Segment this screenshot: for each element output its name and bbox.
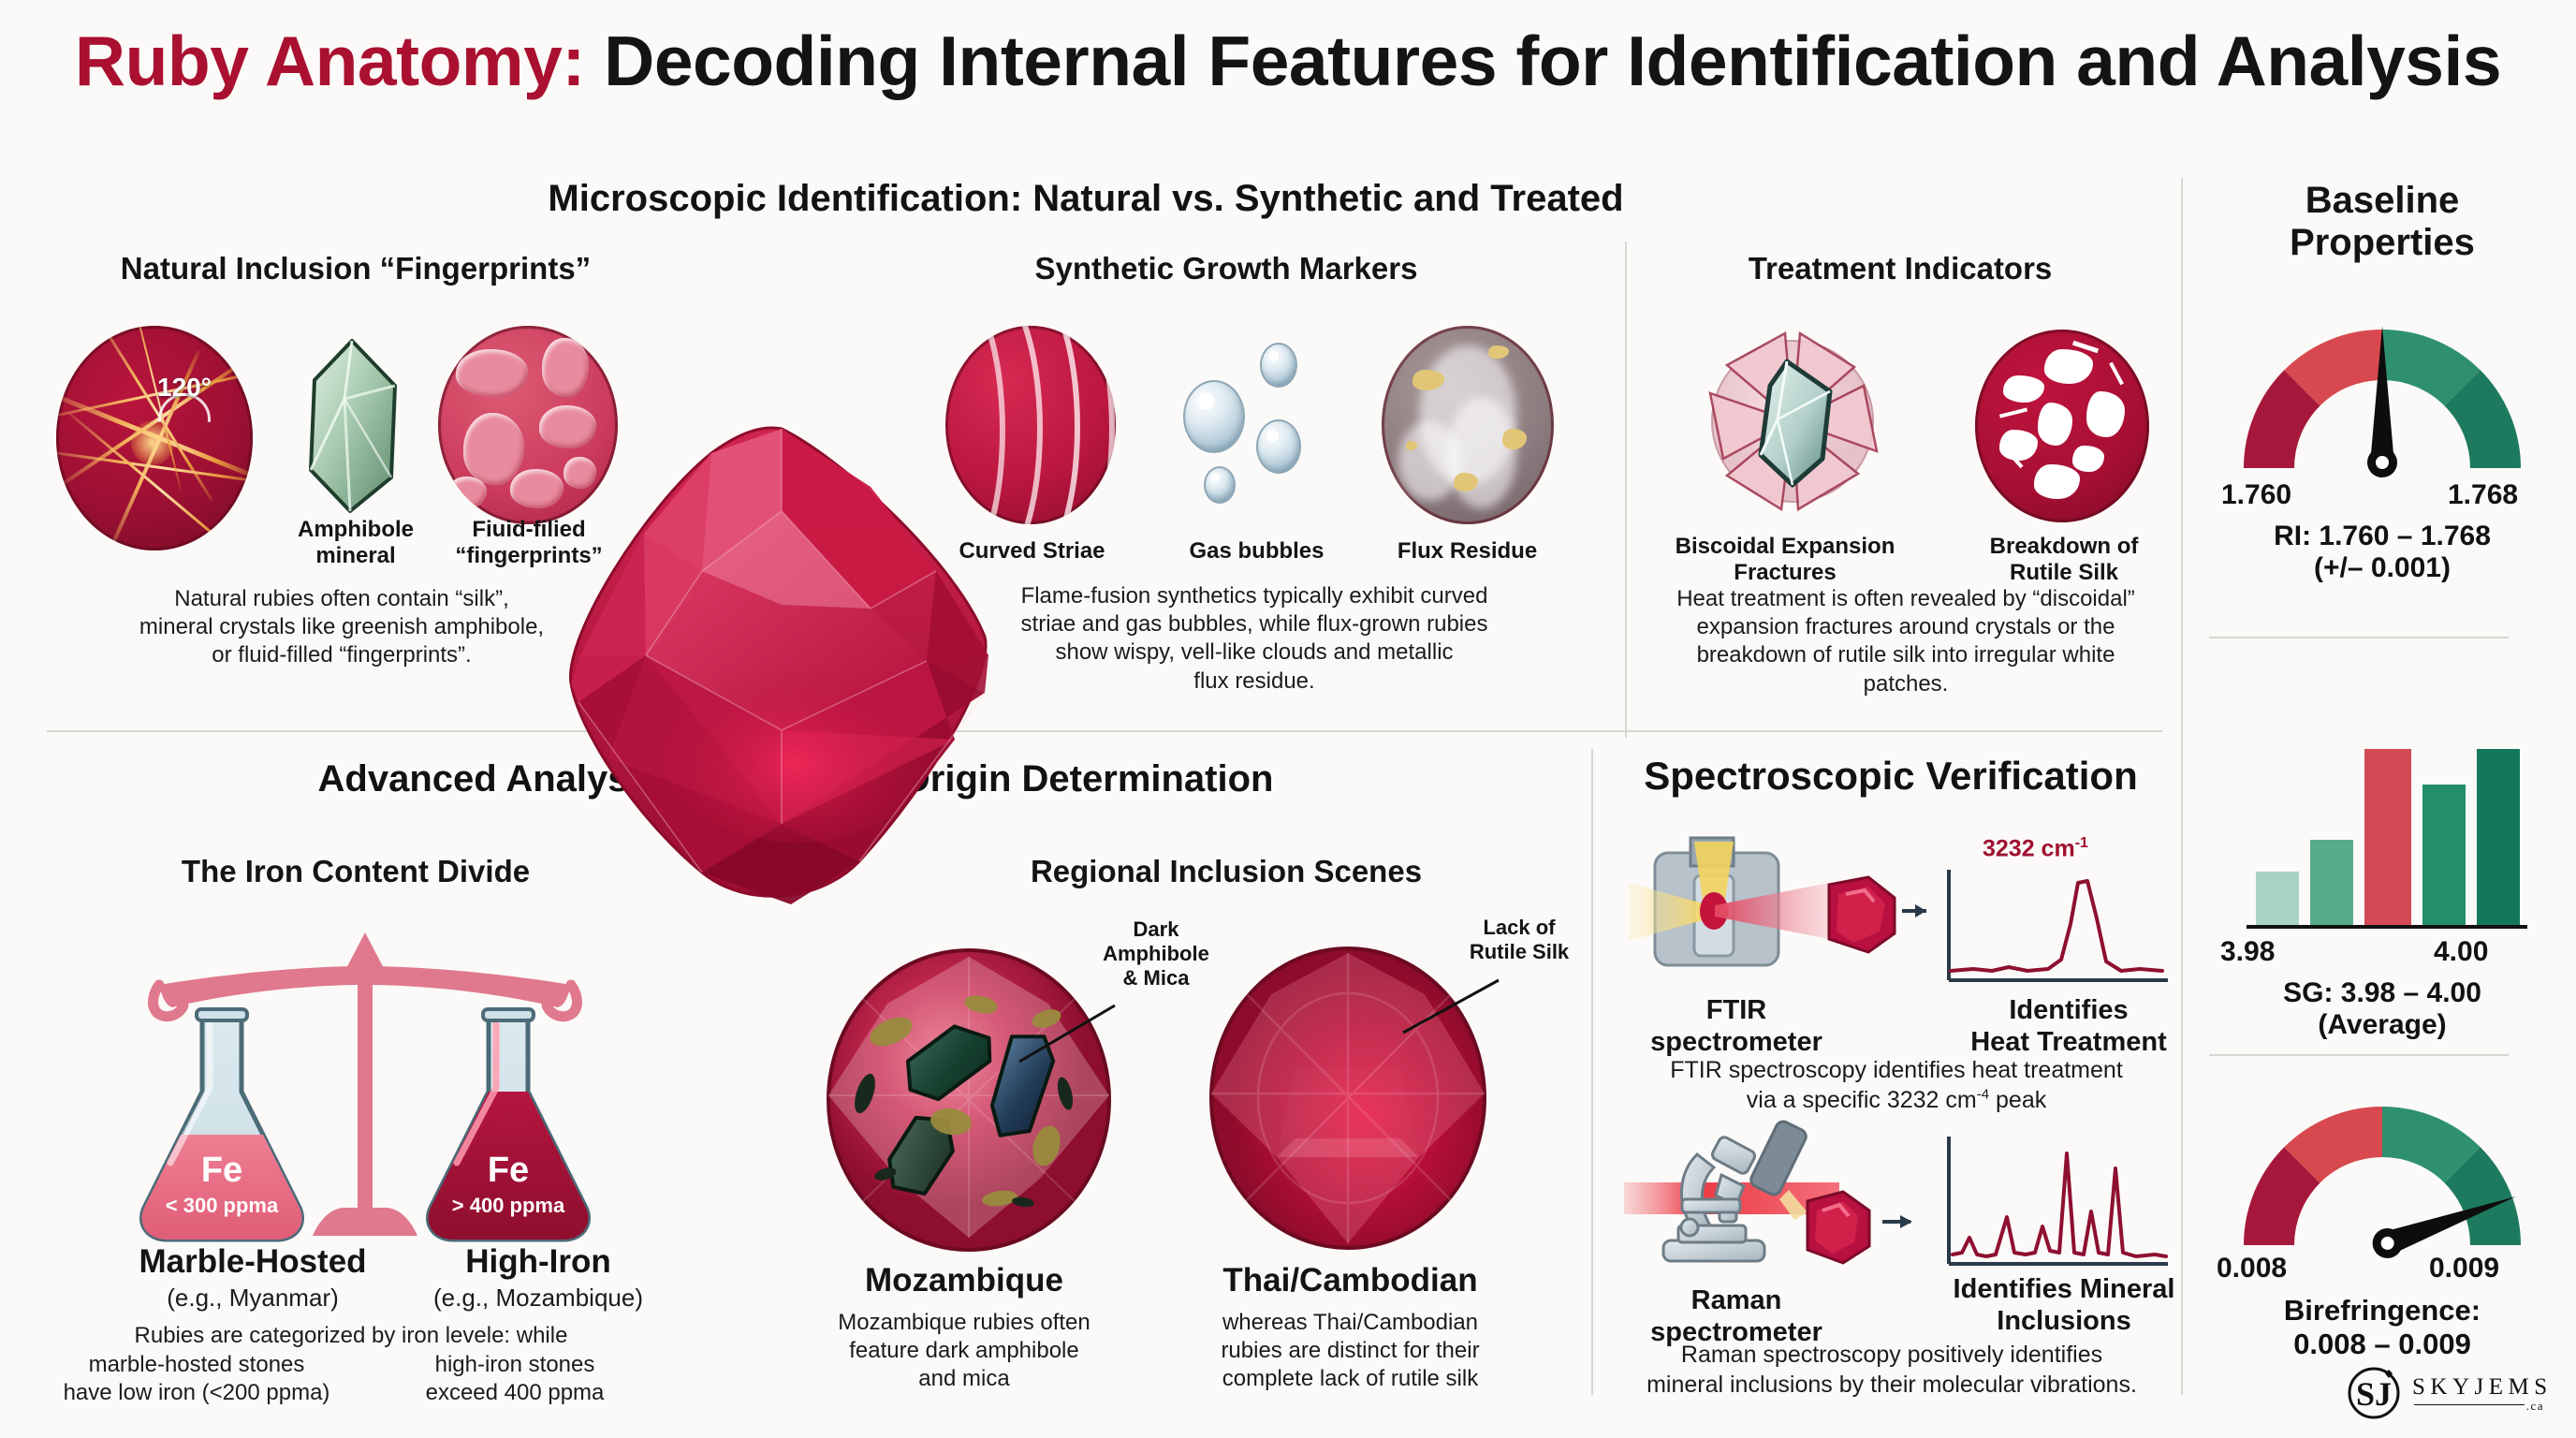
bubble-icon — [1260, 343, 1297, 388]
label-raman-spectrometer: Raman spectrometer — [1629, 1284, 1844, 1348]
sg-bar — [2364, 749, 2411, 927]
sg-bar-chart — [2256, 749, 2518, 927]
label-gas-bubbles: Gas bubbles — [1161, 538, 1353, 565]
leader-line-amphibole — [1016, 1004, 1119, 1064]
callout-lack-of-rutile-silk: Lack of Rutile Silk — [1430, 916, 1608, 964]
bubble-icon — [1183, 380, 1245, 453]
caption-thai-cambodian: whereas Thai/Cambodian rubies are distin… — [1179, 1309, 1521, 1394]
caption-iron-left: marble-hosted stones have low iron (<200… — [56, 1351, 337, 1407]
title-rest: Decoding Internal Features for Identific… — [604, 22, 2501, 100]
rutile-breakdown-specimen — [1975, 330, 2149, 522]
sg-max-label: 4.00 — [2434, 936, 2488, 968]
label-amphibole: Amphibole mineral — [285, 517, 426, 570]
mozambique-gem-specimen — [824, 946, 1114, 1255]
title-highlight: Ruby Anatomy: — [75, 22, 604, 100]
sg-caption: SG: 3.98 – 4.00 (Average) — [2200, 977, 2565, 1041]
divider-baseline-1 — [2209, 637, 2509, 638]
label-ftir-spectrometer: FTIR spectrometer — [1633, 994, 1839, 1058]
ri-gauge — [2223, 307, 2541, 485]
raman-spectrum-plot — [1938, 1133, 2172, 1278]
band-header-spectroscopic: Spectroscopic Verification — [1619, 754, 2162, 799]
sg-bar — [2310, 840, 2353, 927]
birefringence-min: 0.008 — [2217, 1253, 2287, 1284]
caption-natural: Natural rubies often contain “silk”, min… — [51, 585, 632, 670]
logo-tld: .ca — [2526, 1399, 2544, 1414]
label-high-iron-sub: (e.g., Mozambique) — [379, 1283, 697, 1313]
gas-bubbles-specimen — [1170, 330, 1339, 517]
ri-gauge-min: 1.760 — [2221, 479, 2291, 511]
caption-iron-right: high-iron stones exceed 400 ppma — [374, 1351, 655, 1407]
label-identifies-heat-treatment: Identifies Heat Treatment — [1956, 994, 2181, 1058]
raman-spectrometer-icon — [1624, 1109, 1933, 1283]
sg-bar — [2422, 785, 2466, 927]
caption-iron-line1: Rubies are categorized by iron levele: w… — [51, 1322, 651, 1350]
label-mozambique: Mozambique — [805, 1262, 1123, 1299]
section-header-iron: The Iron Content Divide — [66, 854, 646, 889]
sg-chart-axis — [2247, 925, 2527, 929]
section-header-treatment: Treatment Indicators — [1657, 251, 2144, 286]
balance-scale-diagram: Fe < 300 ppma Fe > 400 ppma — [103, 927, 627, 1292]
amphibole-crystal-specimen — [298, 337, 410, 515]
section-header-natural: Natural Inclusion “Fingerprints” — [56, 251, 655, 286]
caption-treatment: Heat treatment is often revealed by “dis… — [1636, 585, 2175, 698]
divider-vertical-baseline — [2181, 178, 2183, 1395]
ftir-spectrum-plot — [1938, 866, 2172, 992]
ri-gauge-max: 1.768 — [2448, 479, 2518, 511]
divider-horizontal-right — [1123, 730, 2162, 732]
label-flux-residue: Flux Residue — [1371, 538, 1563, 565]
label-rutile-breakdown: Breakdown of Rutile Silk — [1952, 534, 2176, 587]
section-header-synthetic: Synthetic Growth Markers — [936, 251, 1516, 286]
ftir-peak-annotation: 3232 cm-1 — [1983, 835, 2088, 862]
label-discoidal-fractures: Biscoidal Expansion Fractures — [1631, 534, 1939, 587]
center-ruby-gem — [562, 421, 1002, 946]
sg-min-label: 3.98 — [2220, 936, 2275, 968]
divider-vertical-spectro — [1591, 749, 1593, 1395]
svg-text:< 300 ppma: < 300 ppma — [166, 1194, 279, 1217]
logo-rule — [2414, 1404, 2525, 1405]
label-high-iron: High-Iron — [388, 1243, 688, 1281]
svg-text:> 400 ppma: > 400 ppma — [452, 1194, 565, 1217]
angle-label-120: 120° — [157, 373, 212, 403]
caption-raman: Raman spectroscopy positively identifies… — [1606, 1341, 2177, 1400]
birefringence-caption: Birefringence: 0.008 – 0.009 — [2200, 1294, 2565, 1361]
page-title: Ruby Anatomy: Decoding Internal Features… — [0, 26, 2576, 96]
ftir-spectrometer-icon — [1629, 829, 1928, 992]
infographic-canvas: Ruby Anatomy: Decoding Internal Features… — [0, 0, 2576, 1438]
discoidal-fracture-specimen — [1690, 318, 1895, 524]
silk-inclusion-specimen — [56, 326, 253, 550]
caption-synthetic: Flame-fusion synthetics typically exhibi… — [945, 582, 1563, 696]
label-marble-hosted: Marble-Hosted — [103, 1243, 402, 1281]
leader-line-rutile — [1399, 978, 1502, 1036]
divider-baseline-2 — [2209, 1054, 2509, 1056]
ri-caption: RI: 1.760 – 1.768 (+/– 0.001) — [2200, 521, 2565, 584]
sg-bar — [2256, 872, 2299, 927]
flux-residue-specimen — [1382, 326, 1554, 524]
birefringence-gauge — [2223, 1084, 2541, 1262]
svg-text:Fe: Fe — [201, 1151, 242, 1190]
bubble-icon — [1204, 466, 1236, 504]
caption-mozambique: Mozambique rubies often feature dark amp… — [800, 1309, 1128, 1394]
svg-text:SJ: SJ — [2356, 1375, 2392, 1413]
label-identifies-mineral-inclusions: Identifies Mineral Inclusions — [1928, 1273, 2200, 1337]
caption-ftir: FTIR spectroscopy identifies heat treatm… — [1616, 1056, 2177, 1115]
sg-bar — [2477, 749, 2520, 927]
divider-vertical-synth-treat — [1625, 242, 1627, 738]
bubble-icon — [1256, 419, 1301, 474]
logo-wordmark: SKYJEMS — [2412, 1374, 2553, 1401]
label-thai-cambodian: Thai/Cambodian — [1184, 1262, 1516, 1299]
skyjems-logo: SJ SKYJEMS .ca — [2345, 1367, 2546, 1419]
svg-text:Fe: Fe — [488, 1151, 529, 1190]
section-header-baseline: Baseline Properties — [2195, 180, 2569, 264]
band-header-microscopic: Microscopic Identification: Natural vs. … — [449, 178, 1722, 220]
label-marble-hosted-sub: (e.g., Myanmar) — [103, 1283, 402, 1313]
birefringence-max: 0.009 — [2429, 1253, 2499, 1284]
section-header-regional: Regional Inclusion Scenes — [936, 854, 1516, 889]
